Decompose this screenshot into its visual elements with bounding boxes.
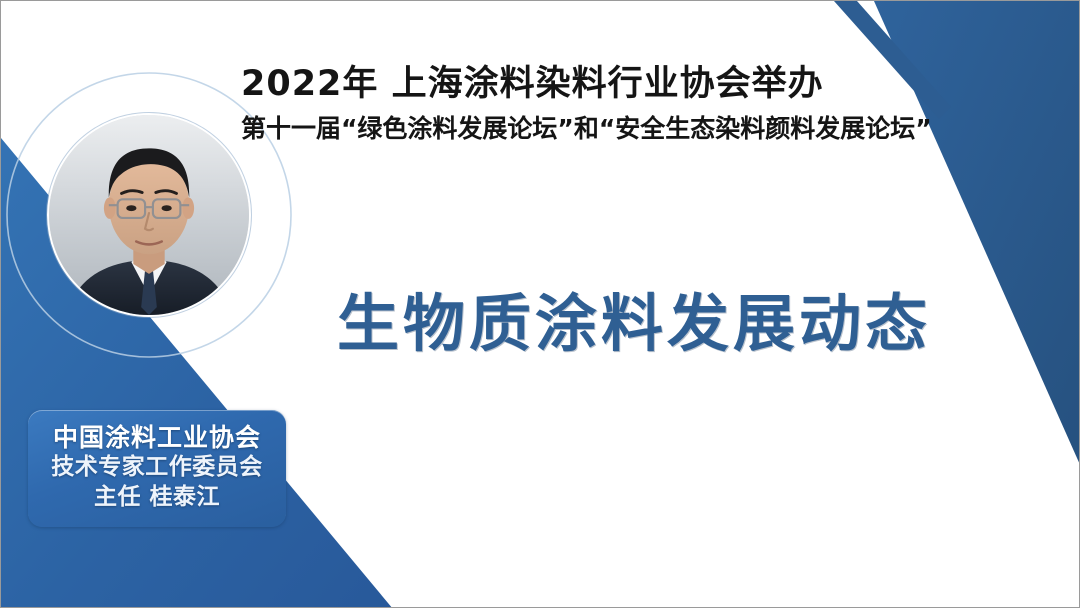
speaker-organization: 中国涂料工业协会 [53,423,261,454]
event-title-line2: 第十一届“绿色涂料发展论坛”和“安全生态染料颜料发展论坛” [241,113,1041,146]
speaker-badge: 中国涂料工业协会 技术专家工作委员会 主任 桂泰江 [28,410,286,527]
presentation-slide: 2022年 上海涂料染料行业协会举办 第十一届“绿色涂料发展论坛”和“安全生态染… [0,0,1080,608]
portrait-photo [49,115,249,315]
speaker-portrait [47,113,251,317]
speaker-role-name: 主任 桂泰江 [94,483,220,512]
heading-block: 2022年 上海涂料染料行业协会举办 第十一届“绿色涂料发展论坛”和“安全生态染… [241,63,1041,145]
speaker-department: 技术专家工作委员会 [51,453,263,482]
page-title: 生物质涂料发展动态 [337,273,931,363]
event-title-line1: 2022年 上海涂料染料行业协会举办 [241,63,1041,107]
